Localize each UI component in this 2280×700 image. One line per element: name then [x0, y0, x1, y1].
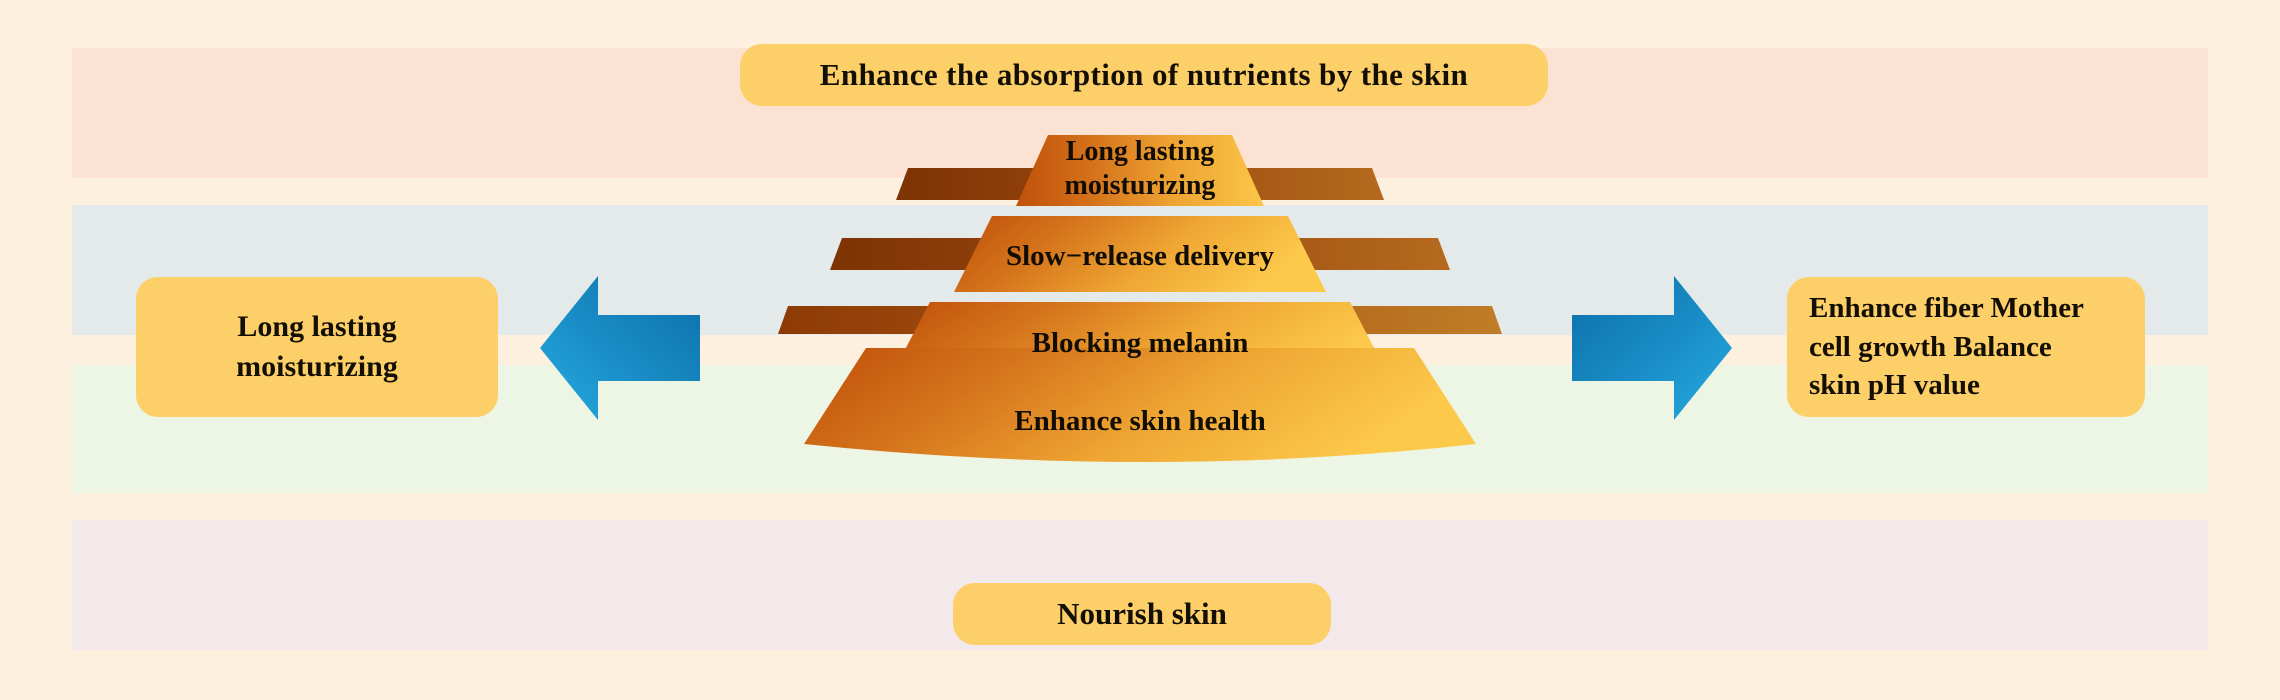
arrow-right-icon	[1572, 272, 1732, 424]
pyramid-tier-1-label-line2: moisturizing	[1065, 170, 1216, 201]
title-banner-label: Enhance the absorption of nutrients by t…	[740, 57, 1548, 93]
title-banner: Enhance the absorption of nutrients by t…	[740, 44, 1548, 106]
right-callout-box: Enhance fiber Mother cell growth Balance…	[1787, 277, 2145, 417]
left-callout-box: Long lasting moisturizing	[136, 277, 498, 417]
diagram-canvas: Enhance the absorption of nutrients by t…	[0, 0, 2280, 700]
right-callout-label: Enhance fiber Mother cell growth Balance…	[1809, 289, 2131, 405]
left-callout-label: Long lasting moisturizing	[136, 307, 498, 386]
pyramid-tier-4-label: Enhance skin health	[1014, 405, 1265, 437]
pyramid-tier-3-label: Blocking melanin	[1032, 327, 1249, 359]
pyramid-tier-1-label-line1: Long lasting	[1066, 136, 1215, 167]
pyramid-tier-2-label: Slow−release delivery	[1006, 240, 1275, 272]
bottom-banner: Nourish skin	[953, 583, 1331, 645]
bottom-banner-label: Nourish skin	[953, 596, 1331, 632]
pyramid-chart: Long lasting moisturizing Slow−release d…	[760, 120, 1520, 540]
arrow-left-icon	[540, 272, 700, 424]
